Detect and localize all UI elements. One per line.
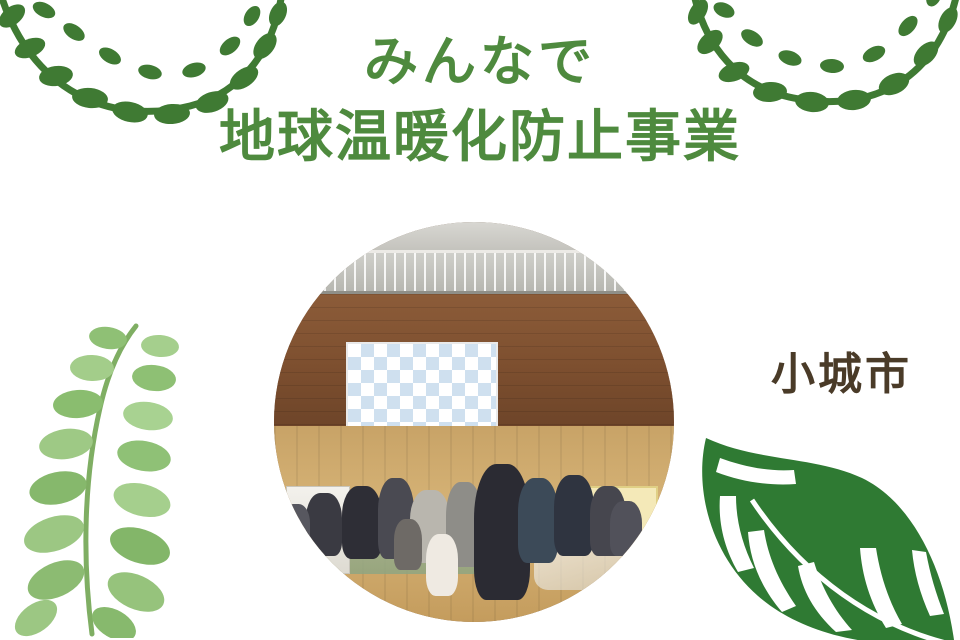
photo-checkered-backdrop [346, 342, 498, 430]
title-line-2: 地球温暖化防止事業 [0, 102, 960, 175]
poster-canvas: みんなで 地球温暖化防止事業 小城市 [0, 0, 960, 640]
event-photo-gymnasium-crowd [274, 222, 674, 622]
photo-crowd [274, 438, 674, 622]
monstera-leaf-icon [686, 426, 960, 640]
poster-title: みんなで 地球温暖化防止事業 [0, 28, 960, 174]
eucalyptus-branch-icon [0, 318, 216, 638]
photo-balcony-railing [274, 250, 674, 294]
city-name-label: 小城市 [771, 338, 912, 402]
title-line-1: みんなで [0, 28, 960, 96]
event-photo-circle [274, 222, 674, 622]
